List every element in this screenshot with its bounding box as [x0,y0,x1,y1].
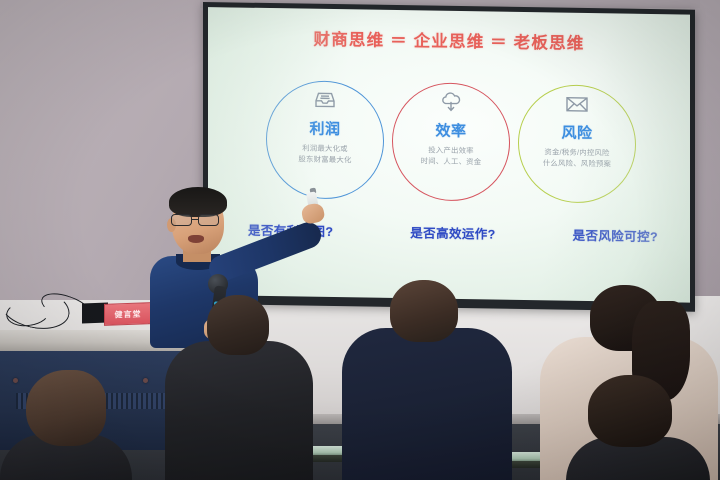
presenter-mouth [188,235,204,243]
audience-head [588,375,672,447]
slide-question-risk: 是否风险可控? [573,225,658,245]
slide-title: 财商思维 ＝ 企业思维 ＝ 老板思维 [208,24,690,56]
lecture-room-scene: 财商思维 ＝ 企业思维 ＝ 老板思维 利润 [0,0,720,480]
audience-head [390,280,458,342]
venn-lobe-efficiency-title: 效率 [392,119,510,142]
audience-head [26,370,106,446]
glasses-lens-right [171,214,192,226]
venn-lobe-profit-sub: 利润最大化或 股东财富最大化 [266,142,384,167]
envelope-icon [518,88,636,120]
venn-lobe-risk: 风险 资金/税务/内控风险 什么风险、风险预案 [518,88,636,171]
audience-member-far-left [0,360,120,480]
venn-lobe-risk-title: 风险 [518,121,636,144]
audience-member-front-right [570,375,700,480]
podium-screw-right [143,378,148,383]
audience-body [165,341,313,480]
audience-body [342,328,512,480]
cloud-download-icon [392,86,510,118]
glasses-bridge [192,219,198,220]
presenter-hair [169,187,227,217]
presenter-glasses [171,214,227,226]
venn-lobe-profit: 利润 利润最大化或 股东财富最大化 [266,84,384,167]
podium-name-card: 健言堂 [104,302,152,326]
audience-member-center [350,280,500,480]
glasses-lens-left [198,214,219,226]
presenter-hand-raised [300,202,325,225]
venn-lobe-efficiency: 效率 投入产出效率 时间、人工、资金 [392,86,510,169]
venn-lobe-profit-title: 利润 [266,117,384,140]
venn-lobe-risk-sub-2: 什么风险、风险预案 [518,157,636,170]
venn-lobe-profit-sub-2: 股东财富最大化 [266,153,384,166]
venn-lobe-risk-sub: 资金/税务/内控风险 什么风险、风险预案 [518,146,636,171]
inbox-tray-icon [266,84,384,116]
audience-head [207,295,269,355]
venn-lobe-efficiency-sub-2: 时间、人工、资金 [392,155,510,168]
audience-member-front-left [165,295,310,480]
slide-question-efficiency: 是否高效运作? [410,222,495,242]
venn-lobe-efficiency-sub: 投入产出效率 时间、人工、资金 [392,144,510,169]
